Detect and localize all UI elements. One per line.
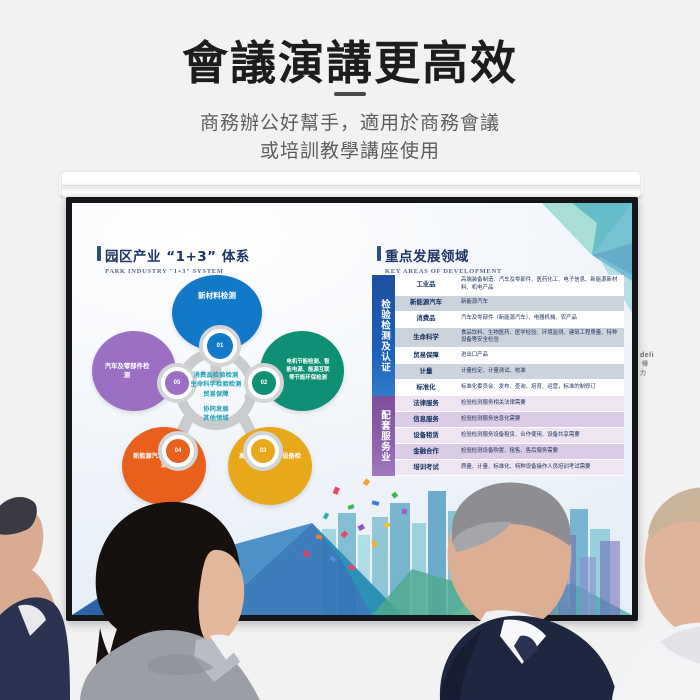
table-cell-key: 消费品 — [395, 312, 457, 327]
core-line-3: 贸易保障 — [203, 391, 229, 398]
right-heading-en: KEY AREAS OF DEVELOPMENT — [385, 268, 502, 275]
diagram-core-text: 消费品检验检测 生命科学检验检测 贸易保障 协同发展 其他领域 — [170, 371, 262, 423]
table-row[interactable]: 工业品 高端装备制造、汽车及零部件、医药化工、电子信息、新能源新材料、机电产品 — [395, 275, 624, 296]
attendee-far-right — [612, 487, 700, 700]
table-row[interactable]: 贸易保障 进出口产品 — [395, 348, 624, 364]
table-block-inspection: 检验检测及认证 工业品 高端装备制造、汽车及零部件、医药化工、电子信息、新能源新… — [372, 275, 624, 396]
table-cell-value: 新能源汽车 — [457, 296, 624, 311]
screen-casing: deli得力 — [62, 172, 640, 198]
table-cell-value: 食品饮料、生物医药、医学检验、环境监测、建筑工程质量、特种设备等安全检验 — [457, 328, 624, 348]
heading-accent-bar — [97, 246, 101, 261]
table-block-label-inspection: 检验检测及认证 — [372, 275, 395, 396]
attendee-right-presenter — [440, 482, 618, 700]
right-heading-cn: 重点发展领域 — [385, 245, 502, 265]
table-row[interactable]: 标准化 标准化委员会、发布、查询、培育、运营，标准的制修订 — [395, 380, 624, 396]
table-rows-inspection: 工业品 高端装备制造、汽车及零部件、医药化工、电子信息、新能源新材料、机电产品 … — [395, 275, 624, 396]
petal-01-label: 新材料检测 — [198, 291, 236, 300]
petal-01-number: 01 — [207, 333, 233, 359]
brand-logo: deli得力 — [640, 352, 654, 377]
table-row[interactable]: 计量 计量检定、计量测试、校准 — [395, 364, 624, 380]
page-title: 會議演講更高效 — [0, 27, 700, 93]
screenshot-stage: 會議演講更高效 商務辦公好幫手，適用於商務會議 或培訓教學講座使用 deli得力 — [0, 0, 700, 700]
table-cell-value: 进出口产品 — [457, 348, 624, 363]
table-cell-value: 检验检测服务信息化需要 — [457, 412, 624, 427]
table-cell-key: 法律服务 — [395, 396, 457, 411]
brand-name-cn: 得力 — [640, 362, 649, 377]
slide-right-heading: 重点发展领域 KEY AREAS OF DEVELOPMENT — [385, 245, 502, 275]
attendee-back-center — [80, 502, 260, 700]
attendee-back-left — [0, 497, 70, 700]
table-row[interactable]: 法律服务 检验检测服务相关法律需要 — [395, 396, 624, 412]
table-cell-key: 计量 — [395, 364, 457, 379]
audience-group — [0, 430, 700, 700]
table-cell-value: 计量检定、计量测试、校准 — [457, 364, 624, 379]
table-cell-value: 检验检测服务相关法律需要 — [457, 396, 624, 411]
table-row[interactable]: 新能源汽车 新能源汽车 — [395, 296, 624, 312]
brand-name: deli — [640, 352, 654, 359]
table-cell-key: 信息服务 — [395, 412, 457, 427]
core-line-5: 其他领域 — [203, 415, 229, 422]
page-subtitle: 商務辦公好幫手，適用於商務會議 或培訓教學講座使用 — [0, 110, 700, 165]
table-cell-key: 新能源汽车 — [395, 296, 457, 311]
slide-left-heading: 园区产业 “1+3” 体系 PARK INDUSTRY "1+3" SYSTEM — [105, 245, 250, 275]
left-heading-en: PARK INDUSTRY "1+3" SYSTEM — [105, 268, 250, 275]
table-cell-key: 工业品 — [395, 275, 457, 295]
table-row[interactable]: 生命科学 食品饮料、生物医药、医学检验、环境监测、建筑工程质量、特种设备等安全检… — [395, 328, 624, 349]
core-line-4: 协同发展 — [170, 405, 262, 414]
page-subtitle-line-1: 商務辦公好幫手，適用於商務會議 — [0, 110, 700, 138]
petal-02-label: 电机节能检测、智能电源、能源互联等节能环保检测 — [286, 359, 330, 382]
petal-05-label: 汽车及零部件检测 — [104, 362, 150, 381]
core-line-2: 生命科学检验检测 — [190, 381, 241, 388]
title-divider — [334, 92, 366, 96]
left-heading-cn: 园区产业 “1+3” 体系 — [105, 245, 250, 265]
table-row[interactable]: 信息服务 检验检测服务信息化需要 — [395, 412, 624, 428]
table-cell-value: 汽车及零部件（新能源汽车）、电器机械、农产品 — [457, 312, 624, 327]
petal-01-hub: 01 — [199, 325, 241, 367]
core-line-1: 消费品检验检测 — [194, 372, 239, 379]
table-cell-key: 标准化 — [395, 380, 457, 395]
heading-accent-bar — [377, 246, 381, 261]
table-row[interactable]: 消费品 汽车及零部件（新能源汽车）、电器机械、农产品 — [395, 312, 624, 328]
table-cell-key: 贸易保障 — [395, 348, 457, 363]
table-cell-value: 标准化委员会、发布、查询、培育、运营，标准的制修订 — [457, 380, 624, 395]
page-subtitle-line-2: 或培訓教學講座使用 — [0, 138, 700, 166]
table-cell-key: 生命科学 — [395, 328, 457, 348]
table-cell-value: 高端装备制造、汽车及零部件、医药化工、电子信息、新能源新材料、机电产品 — [457, 275, 624, 295]
